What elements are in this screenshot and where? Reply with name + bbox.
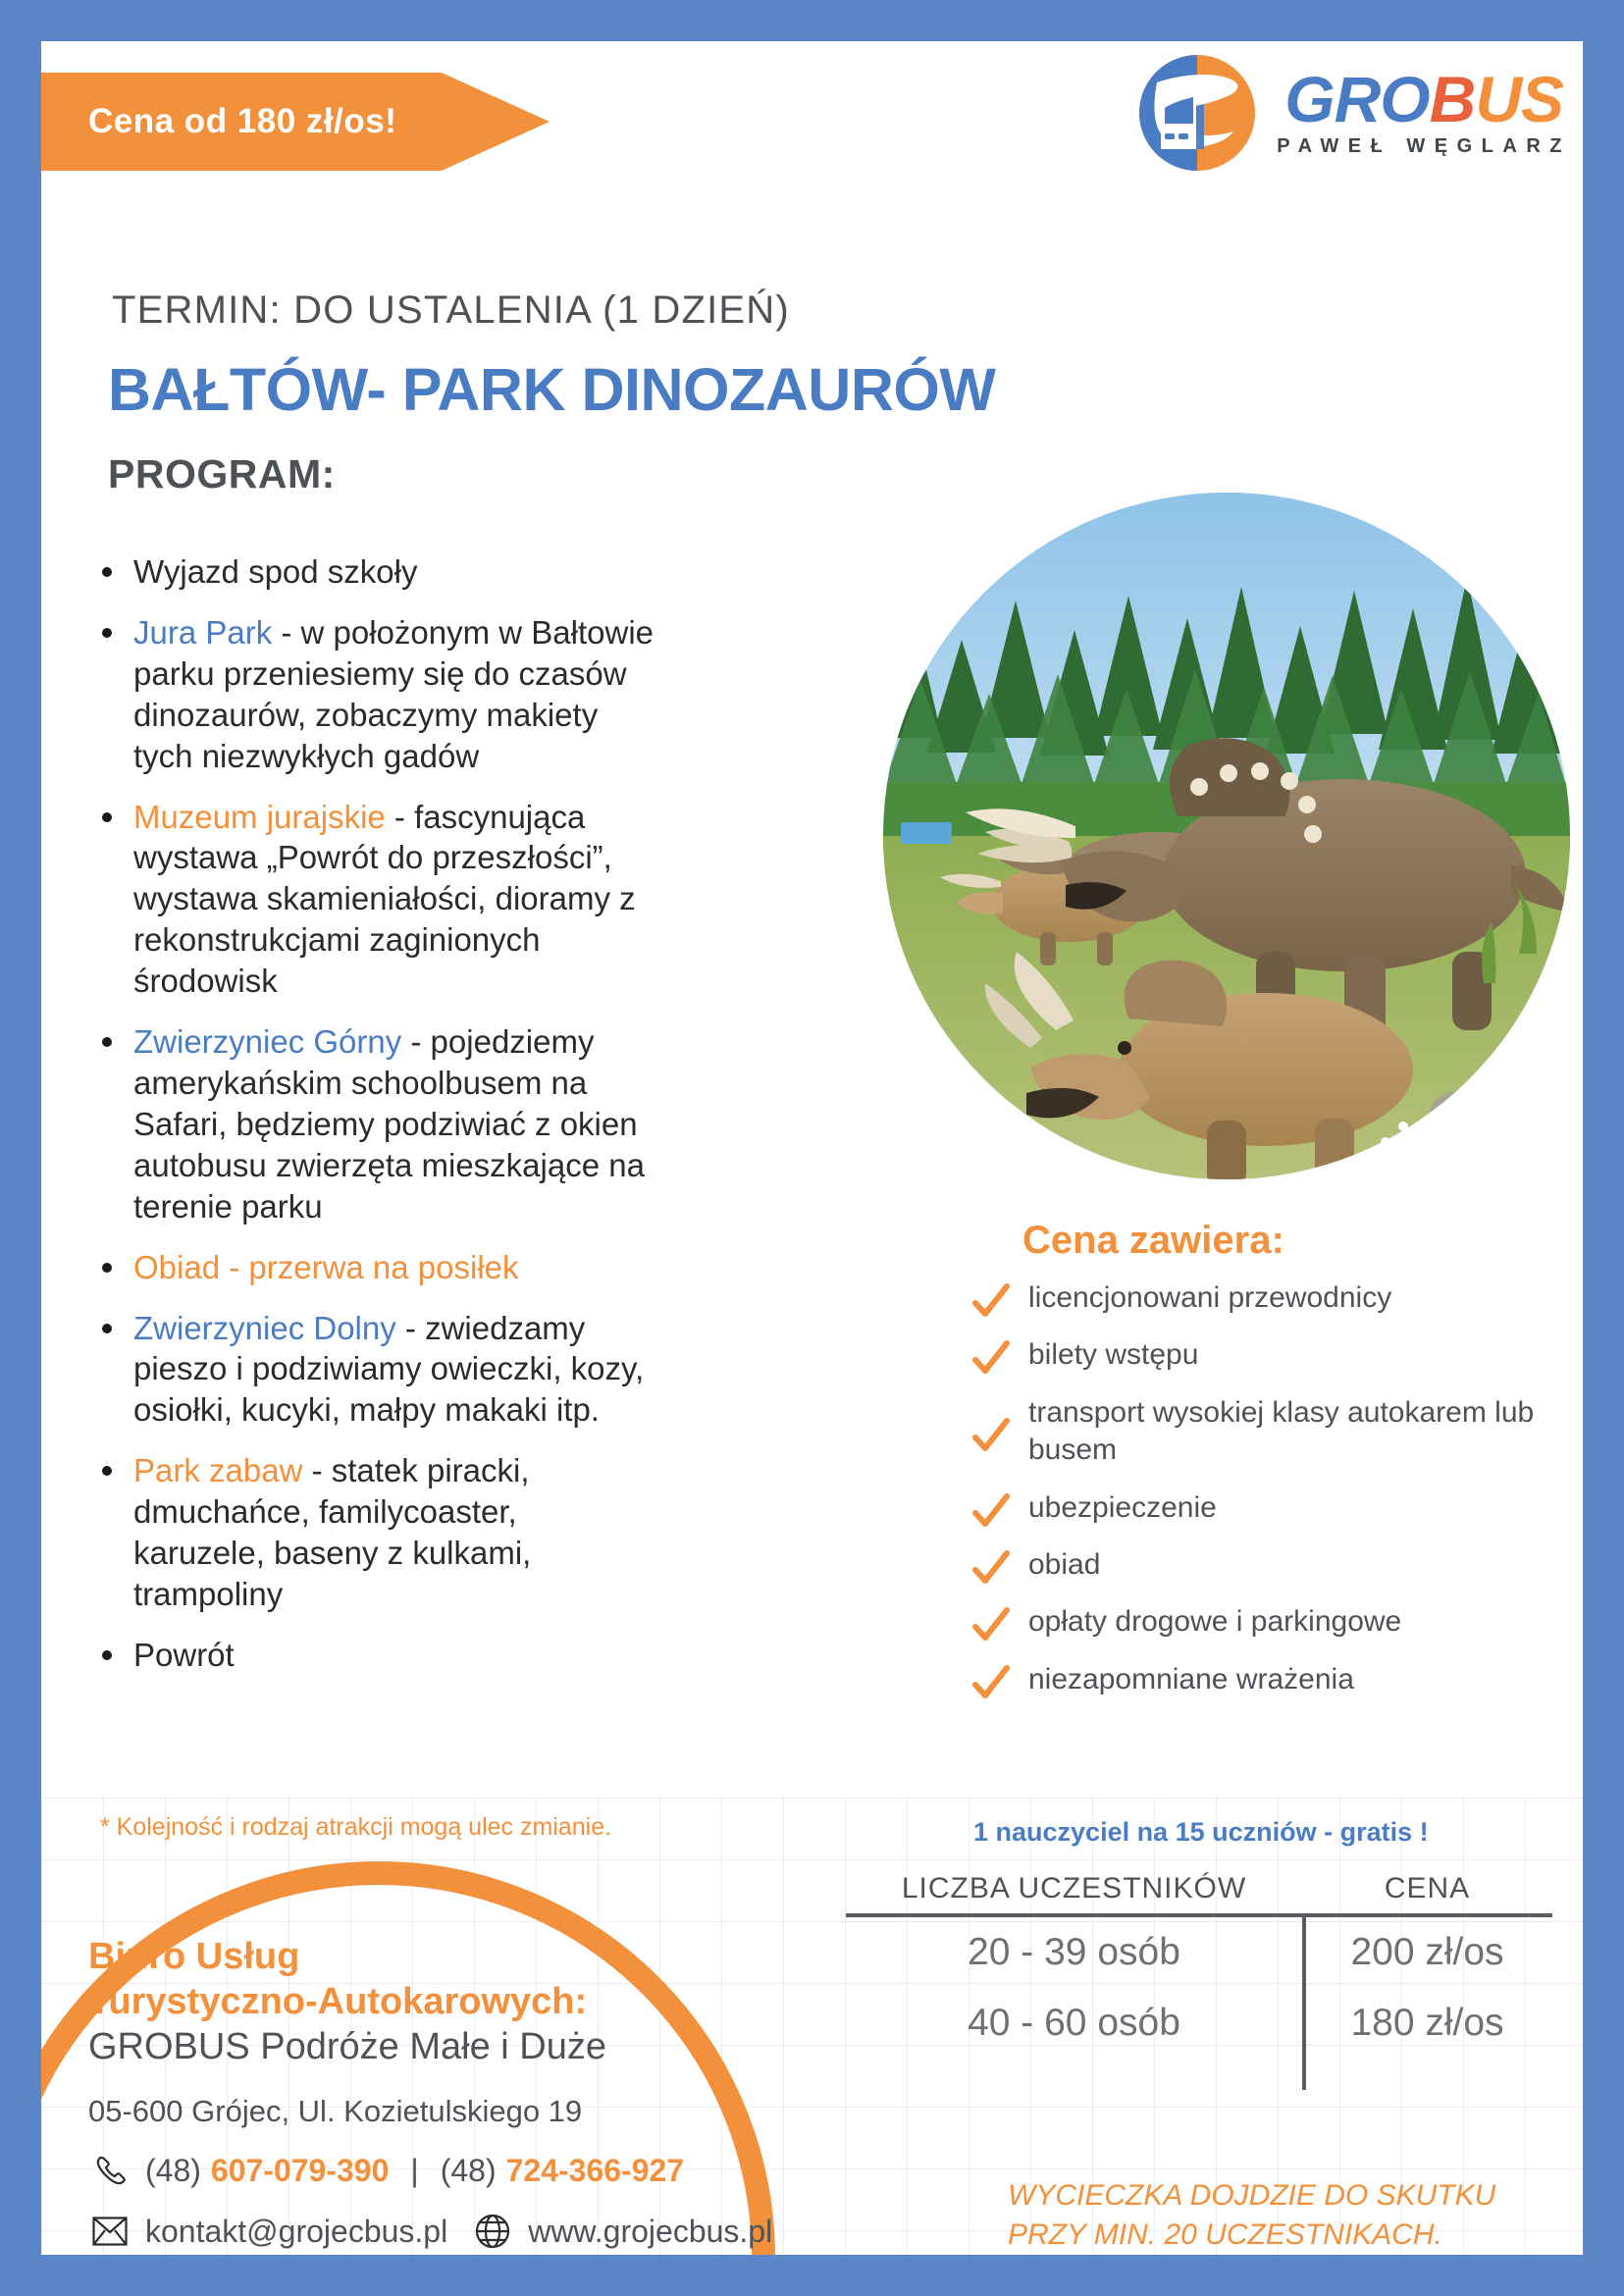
table-row: 20 - 39 osób 200 zł/os <box>846 1917 1552 1988</box>
list-item: transport wysokiej klasy autokarem lub b… <box>964 1394 1572 1470</box>
includes-item-label: ubezpieczenie <box>1028 1491 1217 1524</box>
column-header-participants: LICZBA UCZESTNIKÓW <box>846 1872 1302 1905</box>
includes-item-label: obiad <box>1028 1548 1100 1581</box>
logo-word-gro: GRO <box>1284 63 1429 135</box>
company-name: GROBUS Podróże Małe i Duże <box>88 2026 795 2068</box>
bus-circle-icon <box>1139 55 1255 171</box>
table-row: 40 - 60 osób 180 zł/os <box>846 1988 1552 2059</box>
company-address: 05-600 Grójec, Ul. Kozietulskiego 19 <box>88 2094 795 2129</box>
logo-word-b: B <box>1430 63 1476 135</box>
price-table-header: LICZBA UCZESTNIKÓW CENA <box>846 1872 1552 1913</box>
program-item-highlight-4: Obiad - przerwa na posiłek <box>133 1249 519 1285</box>
phone1-prefix: (48) <box>145 2153 201 2189</box>
check-icon <box>971 1491 1011 1531</box>
office-heading-line1: Biuro Usług <box>88 1935 795 1980</box>
includes-item-label: licencjonowani przewodnicy <box>1028 1281 1391 1314</box>
website-url[interactable]: www.grojecbus.pl <box>528 2214 772 2250</box>
list-item: Jura Park - w położonym w Bałtowie parku… <box>86 612 655 777</box>
program-item-highlight-5: Zwierzyniec Dolny <box>133 1310 396 1346</box>
list-item: Park zabaw - statek piracki, dmuchańce, … <box>86 1450 655 1615</box>
check-icon <box>971 1281 1011 1321</box>
program-item-text-0: Wyjazd spod szkoły <box>133 553 417 590</box>
list-item: Zwierzyniec Górny - pojedziemy amerykańs… <box>86 1021 655 1227</box>
warning-line-1: WYCIECZKA DOJDZIE DO SKUTKU <box>1008 2176 1495 2216</box>
list-item: niezapomniane wrażenia <box>964 1661 1572 1698</box>
minimum-participants-warning: WYCIECZKA DOJDZIE DO SKUTKU PRZY MIN. 20… <box>1008 2176 1495 2254</box>
logo-word: GROBUS <box>1284 68 1563 131</box>
includes-item-label: bilety wstępu <box>1028 1338 1198 1371</box>
list-item: Wyjazd spod szkoły <box>86 551 655 593</box>
check-icon <box>971 1663 1011 1702</box>
phone-icon <box>88 2151 131 2190</box>
phone-separator: | <box>410 2153 418 2189</box>
logo-subtitle: PAWEŁ WĘGLARZ <box>1277 135 1571 158</box>
check-icon <box>971 1605 1011 1644</box>
program-item-highlight-6: Park zabaw <box>133 1452 302 1488</box>
check-icon <box>971 1338 1011 1378</box>
program-item-highlight-3: Zwierzyniec Górny <box>133 1023 401 1060</box>
flyer-page: Cena od 180 zł/os! GROBUS PAWEŁ WĘGLARZ … <box>41 41 1583 2255</box>
list-item: Obiad - przerwa na posiłek <box>86 1247 655 1288</box>
list-item: opłaty drogowe i parkingowe <box>964 1603 1572 1641</box>
contact-block: Biuro Usług Turystyczno-Autokarowych: GR… <box>88 1935 795 2251</box>
column-header-price: CENA <box>1302 1872 1552 1905</box>
program-footnote: * Kolejność i rodzaj atrakcji mogą ulec … <box>100 1813 611 1842</box>
envelope-icon <box>88 2212 131 2251</box>
email-website-row: kontakt@grojecbus.pl www.grojecbus.pl <box>88 2212 795 2251</box>
check-icon <box>971 1416 1011 1455</box>
program-item-highlight-1: Jura Park <box>133 614 272 651</box>
includes-heading: Cena zawiera: <box>1022 1219 1284 1263</box>
list-item: bilety wstępu <box>964 1336 1572 1374</box>
table-divider <box>1302 1917 1306 2090</box>
logo-word-us: US <box>1475 63 1563 135</box>
program-item-highlight-2: Muzeum jurajskie <box>133 799 386 835</box>
list-item: Powrót <box>86 1635 655 1676</box>
phone-row: (48) 607-079-390 | (48) 724-366-927 <box>88 2151 795 2190</box>
price-ribbon: Cena od 180 zł/os! <box>41 73 550 171</box>
globe-icon <box>471 2212 514 2251</box>
list-item: Zwierzyniec Dolny - zwiedzamy pieszo i p… <box>86 1308 655 1432</box>
program-list: Wyjazd spod szkoły Jura Park - w położon… <box>86 551 655 1696</box>
check-icon <box>971 1548 1011 1588</box>
price-table-body: 20 - 39 osób 200 zł/os 40 - 60 osób 180 … <box>846 1917 1552 2059</box>
email-address[interactable]: kontakt@grojecbus.pl <box>145 2214 447 2250</box>
includes-list: licencjonowani przewodnicy bilety wstępu… <box>964 1279 1572 1718</box>
cell-participants: 20 - 39 osób <box>846 1917 1302 1988</box>
program-heading: PROGRAM: <box>108 451 336 497</box>
warning-line-2: PRZY MIN. 20 UCZESTNIKACH. <box>1008 2216 1495 2255</box>
phone2-prefix: (48) <box>441 2153 497 2189</box>
cell-price: 180 zł/os <box>1302 1988 1552 2059</box>
list-item: obiad <box>964 1546 1572 1584</box>
phone2-number[interactable]: 724-366-927 <box>506 2153 684 2189</box>
price-table: LICZBA UCZESTNIKÓW CENA 20 - 39 osób 200… <box>846 1872 1552 2059</box>
list-item: Muzeum jurajskie - fascynująca wystawa „… <box>86 797 655 1003</box>
term-line: TERMIN: DO USTALENIA (1 DZIEŃ) <box>112 288 790 333</box>
teacher-free-note: 1 nauczyciel na 15 uczniów - gratis ! <box>973 1817 1429 1848</box>
phone1-number[interactable]: 607-079-390 <box>211 2153 389 2189</box>
program-item-text-7: Powrót <box>133 1637 235 1673</box>
price-ribbon-label: Cena od 180 zł/os! <box>88 102 396 141</box>
company-logo: GROBUS PAWEŁ WĘGLARZ <box>1139 55 1563 171</box>
dinosaur-photo <box>883 493 1570 1179</box>
includes-item-label: transport wysokiej klasy autokarem lub b… <box>1028 1396 1534 1466</box>
cell-price: 200 zł/os <box>1302 1917 1552 1988</box>
list-item: ubezpieczenie <box>964 1489 1572 1527</box>
page-title: BAŁTÓW- PARK DINOZAURÓW <box>108 355 995 424</box>
office-heading-line2: Turystyczno-Autokarowych: <box>88 1980 795 2025</box>
includes-item-label: opłaty drogowe i parkingowe <box>1028 1605 1401 1638</box>
logo-wordmark: GROBUS PAWEŁ WĘGLARZ <box>1277 68 1563 159</box>
list-item: licencjonowani przewodnicy <box>964 1279 1572 1317</box>
includes-item-label: niezapomniane wrażenia <box>1028 1663 1354 1696</box>
cell-participants: 40 - 60 osób <box>846 1988 1302 2059</box>
